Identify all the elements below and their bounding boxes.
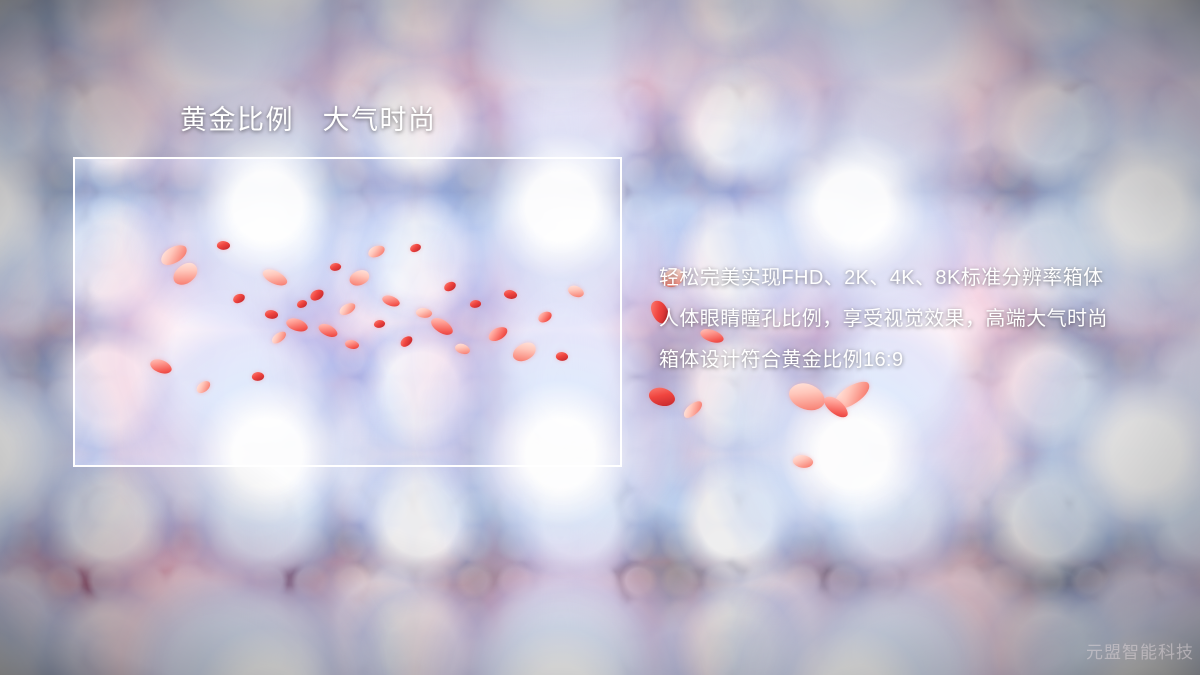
watermark: 元盟智能科技 [1086,638,1194,663]
body-line-1: 轻松完美实现FHD、2K、4K、8K标准分辨率箱体 [659,258,1179,299]
image-panel-content [75,159,620,465]
body-line-2: 人体眼睛瞳孔比例，享受视觉效果，高端大气时尚 [659,299,1179,340]
page-title: 黄金比例 大气时尚 [180,104,437,136]
image-panel-background [75,159,620,465]
slide-root: 黄金比例 大气时尚 轻松完美实现FHD、2K、4K、8K标准分辨率箱体 人体眼睛… [0,0,1200,675]
body-text-block: 轻松完美实现FHD、2K、4K、8K标准分辨率箱体 人体眼睛瞳孔比例，享受视觉效… [659,258,1179,381]
body-line-3: 箱体设计符合黄金比例16:9 [659,340,1179,381]
image-panel-frame[interactable] [73,157,622,467]
